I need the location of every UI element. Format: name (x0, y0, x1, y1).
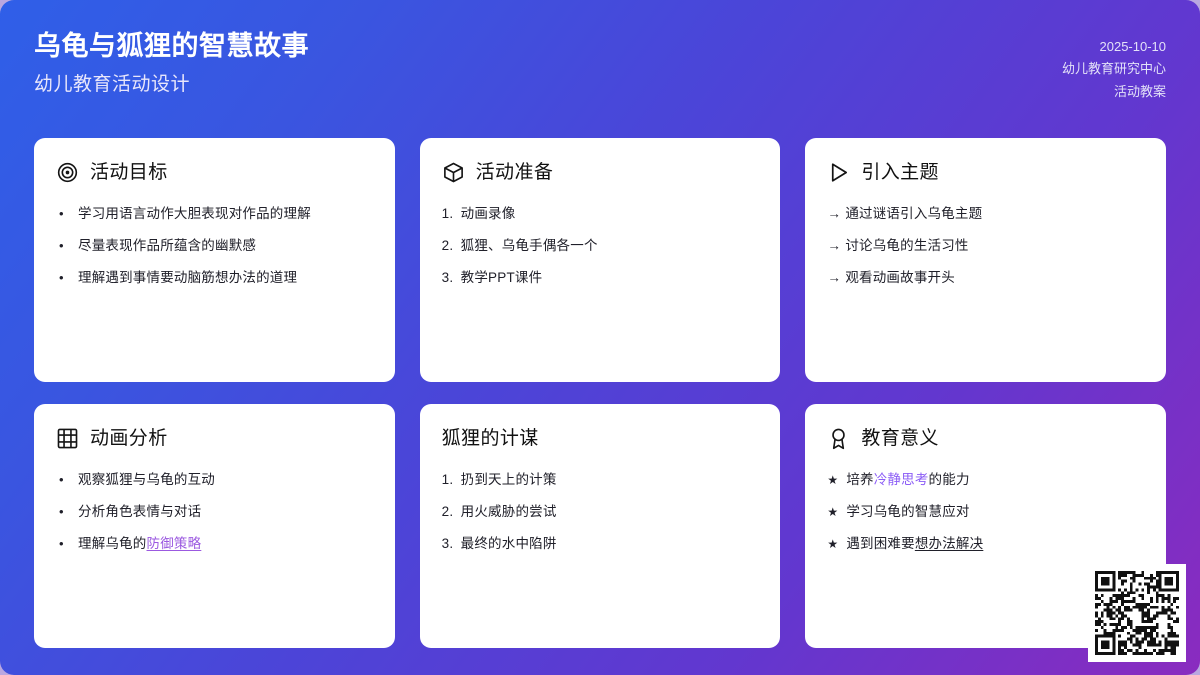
list-item: 1.动画录像 (442, 205, 759, 224)
list-marker: ★ (827, 504, 846, 521)
meta-doc-type: 活动教案 (1062, 81, 1166, 103)
page-subtitle: 幼儿教育活动设计 (34, 73, 309, 97)
card-animation-analysis: 动画分析•观察狐狸与乌龟的互动•分析角色表情与对话•理解乌龟的防御策略 (34, 404, 395, 648)
list-marker: • (59, 237, 78, 255)
card-list: •学习用语言动作大胆表现对作品的理解•尽量表现作品所蕴含的幽默感•理解遇到事情要… (56, 205, 373, 288)
text-segment: 的能力 (929, 472, 970, 487)
text-segment: 理解乌龟的 (78, 536, 147, 551)
highlighted-text: 冷静思考 (874, 472, 929, 487)
card-title: 教育意义 (861, 429, 939, 448)
list-item-text: 学习乌龟的智慧应对 (846, 503, 1144, 522)
list-item: ★培养冷静思考的能力 (827, 471, 1144, 490)
list-item: •尽量表现作品所蕴含的幽默感 (56, 237, 373, 256)
list-item: 3.教学PPT课件 (442, 269, 759, 288)
list-item-text: 观察狐狸与乌龟的互动 (78, 471, 373, 490)
list-item: •理解遇到事情要动脑筋想办法的道理 (56, 269, 373, 288)
page-title: 乌龟与狐狸的智慧故事 (34, 30, 309, 64)
list-item-text: 尽量表现作品所蕴含的幽默感 (78, 237, 373, 256)
list-item: 2.狐狸、乌龟手偶各一个 (442, 237, 759, 256)
title-block: 乌龟与狐狸的智慧故事 幼儿教育活动设计 (34, 26, 309, 97)
card-grid: 活动目标•学习用语言动作大胆表现对作品的理解•尽量表现作品所蕴含的幽默感•理解遇… (34, 138, 1166, 648)
slide-header: 乌龟与狐狸的智慧故事 幼儿教育活动设计 2025-10-10 幼儿教育研究中心 … (0, 0, 1200, 131)
list-marker: → (827, 205, 845, 224)
film-icon (56, 427, 79, 450)
list-item: ★遇到困难要想办法解决 (827, 535, 1144, 554)
list-item: 2.用火威胁的尝试 (442, 503, 759, 522)
list-marker: • (59, 471, 78, 489)
list-marker: • (59, 205, 78, 223)
list-item-text: 狐狸、乌龟手偶各一个 (461, 237, 759, 256)
card-header: 活动准备 (442, 158, 759, 186)
list-item: •分析角色表情与对话 (56, 503, 373, 522)
box-icon (442, 161, 465, 184)
card-header: 动画分析 (56, 424, 373, 452)
list-item-text: 理解乌龟的防御策略 (78, 535, 373, 554)
list-item: •理解乌龟的防御策略 (56, 535, 373, 554)
list-marker: 2. (442, 503, 461, 522)
list-marker: ★ (827, 472, 846, 489)
card-list: ★培养冷静思考的能力★学习乌龟的智慧应对★遇到困难要想办法解决 (827, 471, 1144, 554)
card-list: 1.扔到天上的计策2.用火威胁的尝试3.最终的水中陷阱 (442, 471, 759, 554)
target-icon (56, 161, 79, 184)
list-marker: → (827, 237, 845, 256)
list-item: →通过谜语引入乌龟主题 (827, 205, 1144, 224)
card-header: 狐狸的计谋 (442, 424, 759, 452)
card-title: 活动准备 (476, 163, 554, 182)
list-marker: • (59, 269, 78, 287)
card-header: 教育意义 (827, 424, 1144, 452)
card-activity-preparation: 活动准备1.动画录像2.狐狸、乌龟手偶各一个3.教学PPT课件 (420, 138, 781, 382)
list-item: →讨论乌龟的生活习性 (827, 237, 1144, 256)
list-marker: ★ (827, 536, 846, 553)
list-item-text: 理解遇到事情要动脑筋想办法的道理 (78, 269, 373, 288)
card-introduce-topic: 引入主题→通过谜语引入乌龟主题→讨论乌龟的生活习性→观看动画故事开头 (805, 138, 1166, 382)
list-item-text: 分析角色表情与对话 (78, 503, 373, 522)
card-header: 活动目标 (56, 158, 373, 186)
list-item: •观察狐狸与乌龟的互动 (56, 471, 373, 490)
list-marker: • (59, 503, 78, 521)
card-list: →通过谜语引入乌龟主题→讨论乌龟的生活习性→观看动画故事开头 (827, 205, 1144, 288)
list-marker: 3. (442, 535, 461, 554)
text-segment: 培养 (846, 472, 873, 487)
card-list: •观察狐狸与乌龟的互动•分析角色表情与对话•理解乌龟的防御策略 (56, 471, 373, 554)
list-marker: 3. (442, 269, 461, 288)
list-item: →观看动画故事开头 (827, 269, 1144, 288)
list-item: •学习用语言动作大胆表现对作品的理解 (56, 205, 373, 224)
list-item-text: 最终的水中陷阱 (461, 535, 759, 554)
list-item: 3.最终的水中陷阱 (442, 535, 759, 554)
list-item: 1.扔到天上的计策 (442, 471, 759, 490)
qr-code (1095, 571, 1179, 655)
list-item-text: 培养冷静思考的能力 (846, 471, 1144, 490)
card-list: 1.动画录像2.狐狸、乌龟手偶各一个3.教学PPT课件 (442, 205, 759, 288)
text-segment: 遇到困难要 (846, 536, 915, 551)
list-item-text: 动画录像 (461, 205, 759, 224)
list-marker: 1. (442, 471, 461, 490)
list-item-text: 教学PPT课件 (461, 269, 759, 288)
highlighted-text: 想办法解决 (915, 536, 984, 551)
card-fox-schemes: 狐狸的计谋1.扔到天上的计策2.用火威胁的尝试3.最终的水中陷阱 (420, 404, 781, 648)
list-item-text: 讨论乌龟的生活习性 (845, 237, 1144, 256)
list-marker: 2. (442, 237, 461, 256)
card-title: 动画分析 (90, 429, 168, 448)
list-item-text: 扔到天上的计策 (461, 471, 759, 490)
card-activity-goals: 活动目标•学习用语言动作大胆表现对作品的理解•尽量表现作品所蕴含的幽默感•理解遇… (34, 138, 395, 382)
list-marker: • (59, 535, 78, 553)
meta-date: 2025-10-10 (1062, 36, 1166, 58)
list-item-text: 观看动画故事开头 (845, 269, 1144, 288)
award-icon (827, 427, 850, 450)
card-header: 引入主题 (827, 158, 1144, 186)
qr-code-panel[interactable] (1088, 564, 1186, 662)
list-marker: → (827, 269, 845, 288)
card-title: 狐狸的计谋 (442, 429, 539, 448)
slide: 乌龟与狐狸的智慧故事 幼儿教育活动设计 2025-10-10 幼儿教育研究中心 … (0, 0, 1200, 675)
list-item-text: 学习用语言动作大胆表现对作品的理解 (78, 205, 373, 224)
list-item-text: 通过谜语引入乌龟主题 (845, 205, 1144, 224)
card-title: 活动目标 (90, 163, 168, 182)
card-title: 引入主题 (861, 163, 939, 182)
list-item-text: 遇到困难要想办法解决 (846, 535, 1144, 554)
header-meta: 2025-10-10 幼儿教育研究中心 活动教案 (1062, 26, 1166, 103)
meta-organization: 幼儿教育研究中心 (1062, 58, 1166, 80)
list-item-text: 用火威胁的尝试 (461, 503, 759, 522)
list-item: ★学习乌龟的智慧应对 (827, 503, 1144, 522)
play-icon (827, 161, 850, 184)
list-marker: 1. (442, 205, 461, 224)
inline-link[interactable]: 防御策略 (147, 536, 202, 551)
